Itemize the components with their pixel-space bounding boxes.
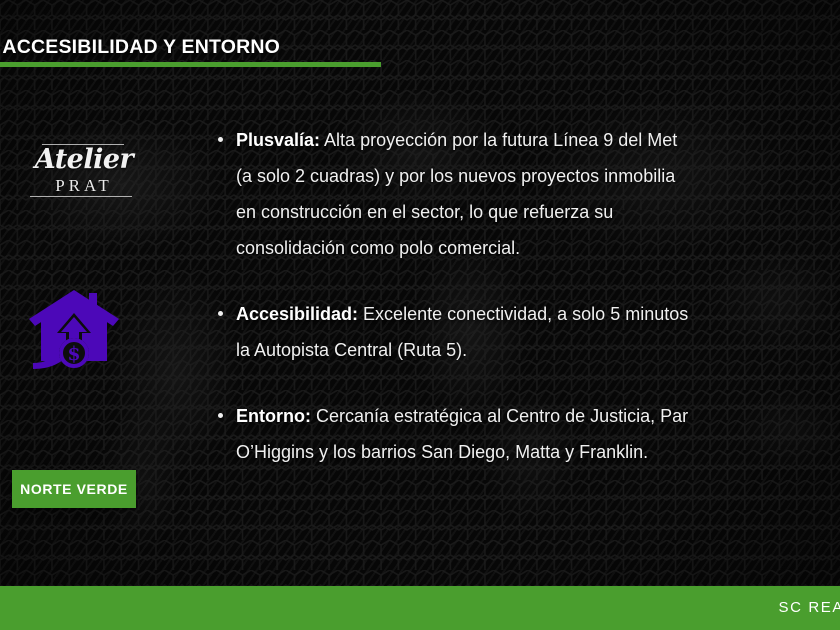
bullet-line: Accesibilidad: Excelente conectividad, a… bbox=[236, 296, 840, 332]
bullet-line: Entorno: Cercanía estratégica al Centro … bbox=[236, 398, 840, 434]
logo-sub-text: PRAT bbox=[28, 176, 140, 196]
title-underline-rule bbox=[0, 62, 381, 67]
bullet-text: Alta proyección por la futura Línea 9 de… bbox=[320, 130, 677, 150]
bullet-accesibilidad: Accesibilidad: Excelente conectividad, a… bbox=[214, 296, 840, 368]
logo-bottom-rule bbox=[30, 196, 132, 197]
svg-text:$: $ bbox=[67, 343, 80, 365]
norte-verde-button[interactable]: NORTE VERDE bbox=[12, 470, 136, 508]
bullet-line: la Autopista Central (Ruta 5). bbox=[236, 332, 840, 368]
presentation-slide: ÍA, ACCESIBILIDAD Y ENTORNO Atelier PRAT… bbox=[0, 0, 840, 630]
bullet-lead: Accesibilidad: bbox=[236, 304, 358, 324]
bullet-lead: Plusvalía: bbox=[236, 130, 320, 150]
bullet-line: (a solo 2 cuadras) y por los nuevos proy… bbox=[236, 158, 840, 194]
slide-title: ÍA, ACCESIBILIDAD Y ENTORNO bbox=[0, 36, 432, 59]
bullet-entorno: Entorno: Cercanía estratégica al Centro … bbox=[214, 398, 840, 470]
logo-script-text: Atelier bbox=[28, 144, 140, 175]
atelier-prat-logo: Atelier PRAT bbox=[22, 134, 140, 204]
bullet-plusvalia: Plusvalía: Alta proyección por la futura… bbox=[214, 122, 840, 266]
footer-brand-text: SC REA bbox=[779, 599, 840, 616]
bullet-line: en construcción en el sector, lo que ref… bbox=[236, 194, 840, 230]
bullet-line: consolidación como polo comercial. bbox=[236, 230, 840, 266]
bullet-lead: Entorno: bbox=[236, 406, 311, 426]
bullet-text: Cercanía estratégica al Centro de Justic… bbox=[311, 406, 688, 426]
bullet-line: Plusvalía: Alta proyección por la futura… bbox=[236, 122, 840, 158]
bullet-line: O’Higgins y los barrios San Diego, Matta… bbox=[236, 434, 840, 470]
bullet-text: Excelente conectividad, a solo 5 minutos bbox=[358, 304, 688, 324]
footer-bar: SC REA bbox=[0, 586, 840, 630]
house-value-arrow-dollar-icon: $ bbox=[27, 285, 121, 371]
bullet-list: Plusvalía: Alta proyección por la futura… bbox=[214, 122, 840, 500]
